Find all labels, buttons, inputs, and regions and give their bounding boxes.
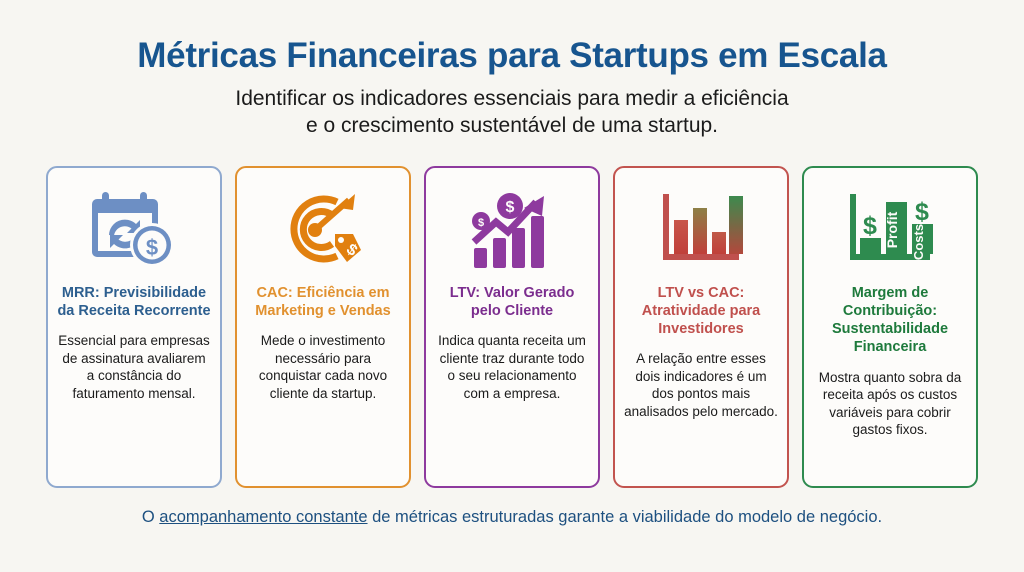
card-body: Indica quanta receita um cliente traz du… <box>435 332 589 402</box>
card-title: Margem de Contribuição: Sustentabilidade… <box>813 284 967 357</box>
profit-bar-label: Profit <box>884 211 900 248</box>
footer-lead: O <box>142 508 159 526</box>
card-title: LTV: Valor Gerado pelo Cliente <box>435 284 589 321</box>
svg-text:$: $ <box>915 198 929 226</box>
svg-text:$: $ <box>478 217 484 229</box>
card-title: LTV vs CAC: Atratividade para Investidor… <box>624 284 778 339</box>
subtitle-line-2: e o crescimento sustentável de uma start… <box>0 113 1024 140</box>
target-arrow-price-tag-icon: $ <box>277 182 369 278</box>
footer-rest: de métricas estruturadas garante a viabi… <box>368 508 883 526</box>
footer-note: O acompanhamento constante de métricas e… <box>0 508 1024 527</box>
profit-costs-bar-chart-icon: $ $ Profit Costs <box>844 182 936 278</box>
card-title: CAC: Eficiência em Marketing e Vendas <box>246 284 400 321</box>
page-subtitle: Identificar os indicadores essenciais pa… <box>0 86 1024 140</box>
card-body: Mede o investimento necessário para conq… <box>246 332 400 402</box>
calendar-recurring-revenue-icon: $ <box>88 182 180 278</box>
card-title: MRR: Previsibilidade da Receita Recorren… <box>57 284 211 321</box>
metric-card-ltv[interactable]: $ $ LTV: Valor Gerado pelo Cliente Indic… <box>424 166 600 488</box>
metric-cards-row: $ MRR: Previsibilidade da Receita Recorr… <box>42 166 982 488</box>
metric-card-mrr[interactable]: $ MRR: Previsibilidade da Receita Recorr… <box>46 166 222 488</box>
metric-card-ltv-vs-cac[interactable]: LTV vs CAC: Atratividade para Investidor… <box>613 166 789 488</box>
card-body: Mostra quanto sobra da receita após os c… <box>813 369 967 439</box>
svg-text:$: $ <box>146 235 158 260</box>
card-body: Essencial para empresas de assinatura av… <box>57 332 211 402</box>
infographic-page: Métricas Financeiras para Startups em Es… <box>0 0 1024 572</box>
subtitle-line-1: Identificar os indicadores essenciais pa… <box>235 87 788 110</box>
costs-bar-label: Costs <box>911 223 926 259</box>
svg-text:$: $ <box>863 212 877 240</box>
comparison-bar-chart-icon <box>655 182 747 278</box>
metric-card-cac[interactable]: $ CAC: Eficiência em Marketing e Vendas … <box>235 166 411 488</box>
footer-underlined-phrase: acompanhamento constante <box>159 508 367 526</box>
card-body: A relação entre esses dois indicadores é… <box>624 350 778 420</box>
growth-chart-dollar-icon: $ $ <box>466 182 558 278</box>
header: Métricas Financeiras para Startups em Es… <box>0 0 1024 140</box>
page-title: Métricas Financeiras para Startups em Es… <box>0 38 1024 75</box>
metric-card-margem-contribuicao[interactable]: $ $ Profit Costs Margem de Contribuição:… <box>802 166 978 488</box>
svg-text:$: $ <box>506 199 515 216</box>
